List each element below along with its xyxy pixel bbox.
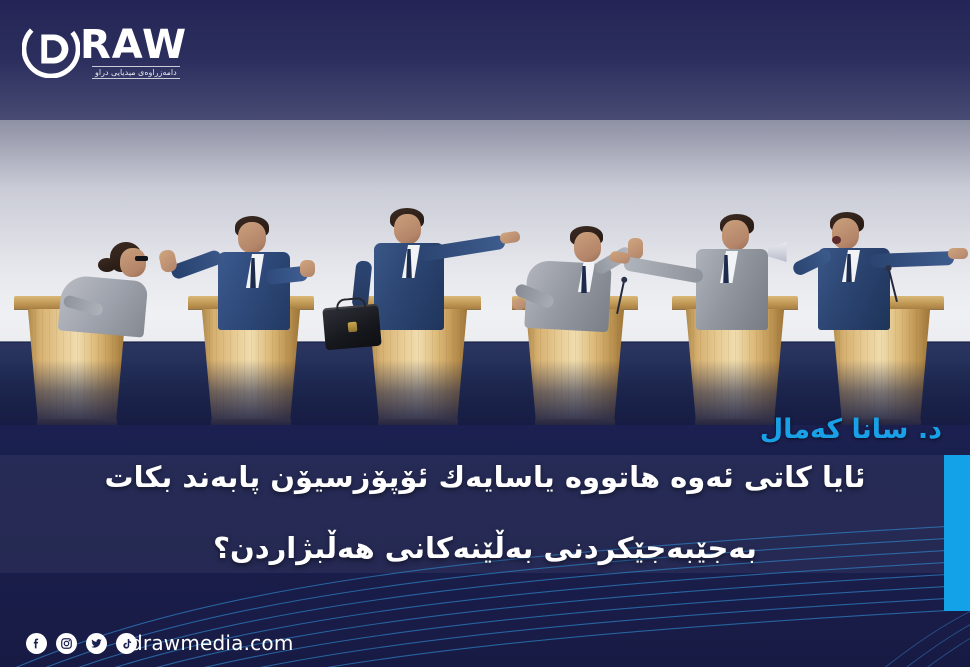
podium-microphone [616, 281, 625, 315]
head [722, 220, 749, 250]
instagram-icon[interactable] [56, 633, 77, 654]
article-headline: ئایا کاتی ئەوە هاتووە یاسایەك ئۆپۆزسیۆن … [28, 455, 942, 571]
figure-3-man-blue-suit-briefcase [360, 208, 510, 330]
social-media-poster: د. سانا کەمال ئایا کاتی ئەوە هاتووە یاسا… [0, 0, 970, 667]
logo-wordmark: RAW [80, 22, 187, 68]
arm-pointing-right [870, 251, 954, 268]
website-url[interactable]: drawmedia.com [130, 631, 294, 655]
social-links [26, 633, 137, 654]
headline-line-2: بەجێبەجێکردنی بەڵێنەکانی هەڵبژاردن؟ [28, 526, 942, 571]
draw-circle-d-logo-icon [22, 20, 80, 78]
hair-bun [98, 258, 116, 272]
hand-thumbs-up [300, 260, 315, 277]
facebook-icon[interactable] [26, 633, 47, 654]
figure-1-woman-grey-suit [50, 220, 160, 330]
hand-pointing-finger [948, 248, 968, 259]
head [574, 232, 601, 262]
footer-bar: drawmedia.com [0, 615, 970, 667]
logo-subtitle: دامەزراوەی میدیایی دراو [92, 66, 180, 79]
twitter-icon[interactable] [86, 633, 107, 654]
head [832, 218, 859, 249]
draw-media-logo[interactable]: RAW دامەزراوەی میدیایی دراو [22, 16, 232, 82]
head [238, 222, 266, 253]
figure-5-man-grey-suit-pointing [660, 212, 810, 330]
head [394, 214, 421, 244]
sunglasses-icon [135, 256, 148, 261]
briefcase-icon [322, 304, 381, 351]
hand-left [512, 298, 526, 310]
hand-right-raised [628, 238, 643, 259]
cyan-accent-bar [944, 455, 970, 611]
open-mouth [832, 236, 841, 244]
article-author: د. سانا کەمال [760, 414, 942, 445]
head [120, 248, 146, 277]
arm-pointing [419, 235, 506, 262]
figure-4-man-grey-suit [512, 218, 652, 330]
debate-stage-photo [0, 120, 970, 430]
headline-line-1: ئایا کاتی ئەوە هاتووە یاسایەك ئۆپۆزسیۆن … [28, 455, 942, 500]
figure-6-man-blue-suit-megaphone [800, 210, 968, 330]
figure-2-man-blue-suit [200, 212, 330, 330]
